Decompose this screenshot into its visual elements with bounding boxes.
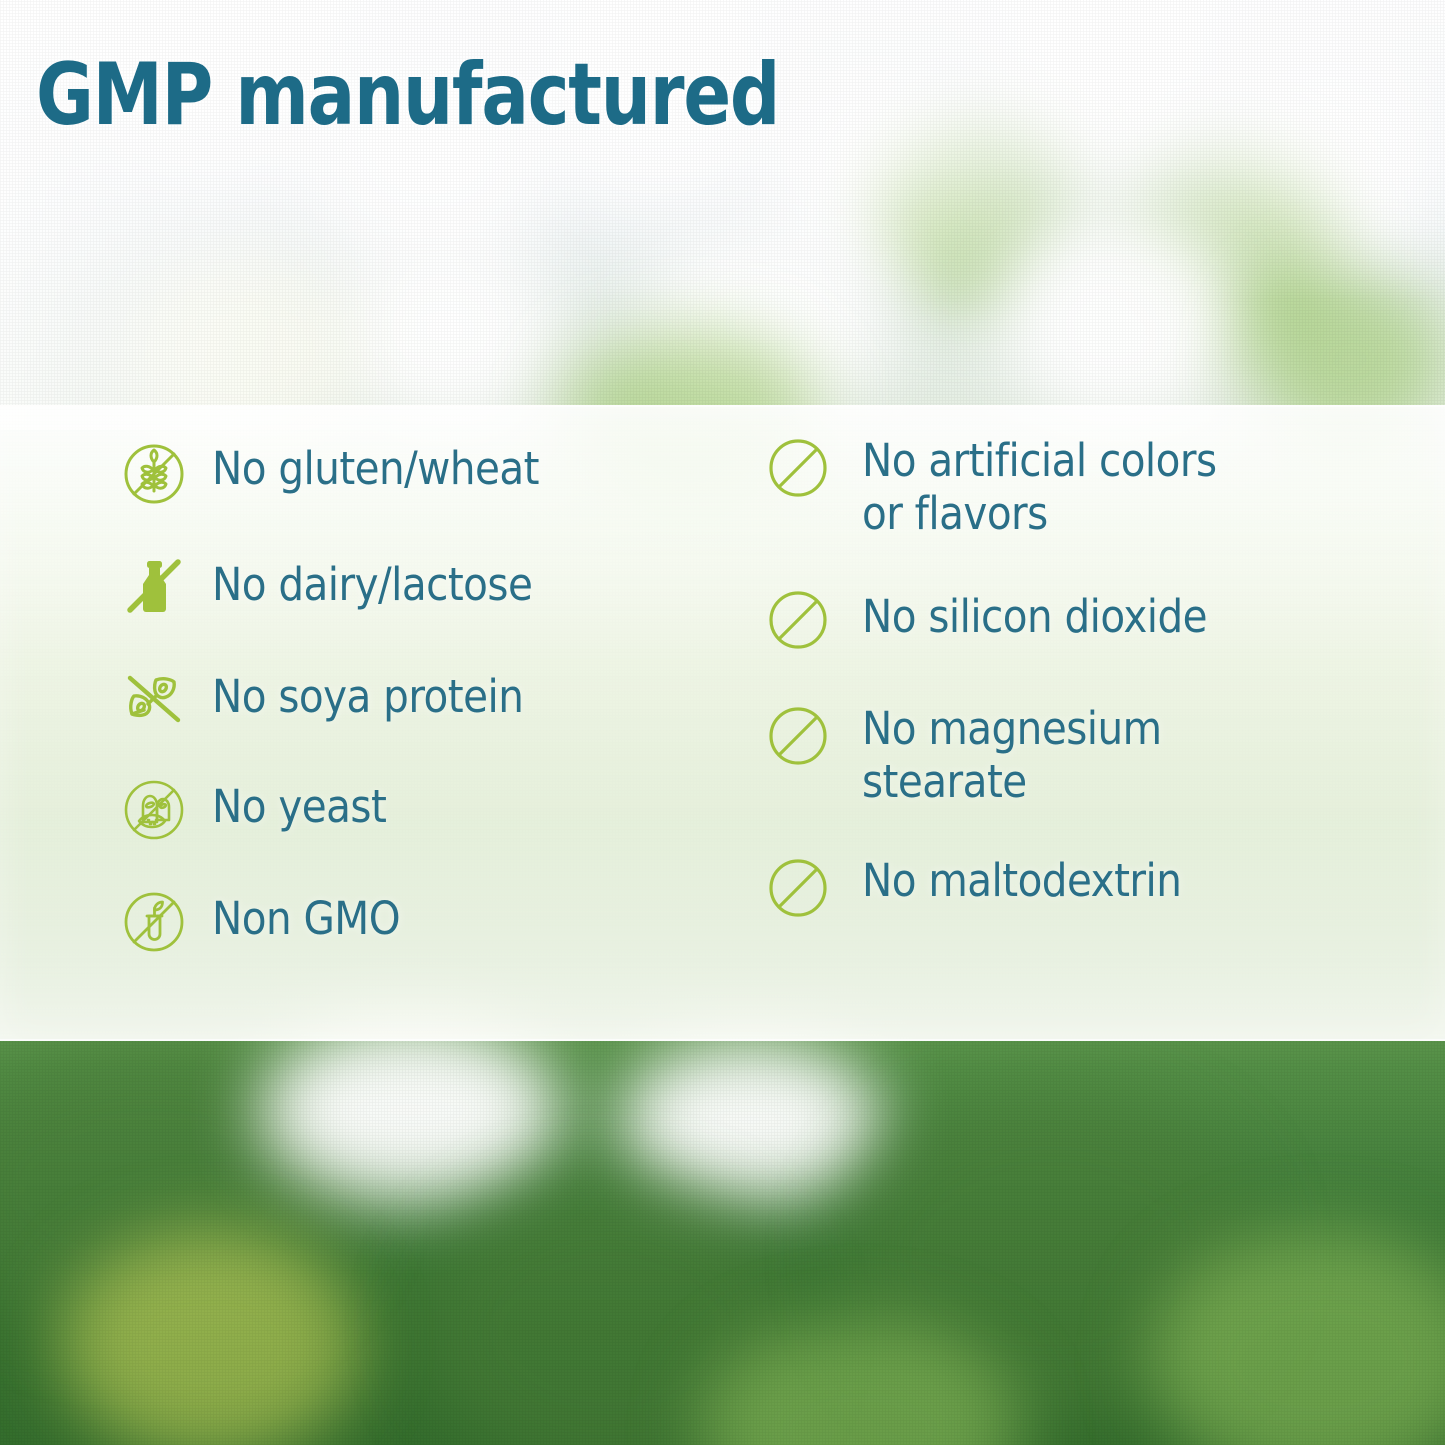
non-gmo-icon	[118, 886, 190, 958]
no-soya-protein-icon	[118, 662, 190, 734]
claim-no-dairy-lactose: No dairy/lactose	[118, 550, 738, 622]
infographic-canvas: GMP manufactured No gluten/wheat	[0, 0, 1445, 1445]
no-gluten-wheat-icon	[118, 438, 190, 510]
claim-no-artificial-colors-or-flavors: No artificial colors or flavors	[762, 432, 1382, 540]
claim-label: Non GMO	[212, 886, 400, 945]
claim-label: No dairy/lactose	[212, 550, 532, 611]
claim-no-magnesium-stearate: No magnesium stearate	[762, 700, 1382, 808]
claim-label: No silicon dioxide	[862, 584, 1207, 643]
prohibition-icon	[762, 584, 834, 656]
claims-right-column: No artificial colors or flavors No silic…	[762, 432, 1382, 968]
no-yeast-icon	[118, 774, 190, 846]
claim-no-gluten-wheat: No gluten/wheat	[118, 438, 738, 510]
claim-label: No maltodextrin	[862, 852, 1181, 907]
claim-label: No soya protein	[212, 662, 523, 723]
prohibition-icon	[762, 432, 834, 504]
prohibition-icon	[762, 852, 834, 924]
claims-left-column: No gluten/wheat No dairy/lactose	[118, 438, 738, 998]
claim-label: No yeast	[212, 774, 386, 833]
claim-no-yeast: No yeast	[118, 774, 738, 846]
page-title: GMP manufactured	[36, 52, 779, 140]
claim-no-silicon-dioxide: No silicon dioxide	[762, 584, 1382, 656]
claim-label: No artificial colors or flavors	[862, 432, 1217, 540]
prohibition-icon	[762, 700, 834, 772]
claim-non-gmo: Non GMO	[118, 886, 738, 958]
no-dairy-lactose-icon	[118, 550, 190, 622]
claim-label: No gluten/wheat	[212, 438, 539, 495]
claim-label: No magnesium stearate	[862, 700, 1162, 808]
claim-no-soya-protein: No soya protein	[118, 662, 738, 734]
claim-no-maltodextrin: No maltodextrin	[762, 852, 1382, 924]
